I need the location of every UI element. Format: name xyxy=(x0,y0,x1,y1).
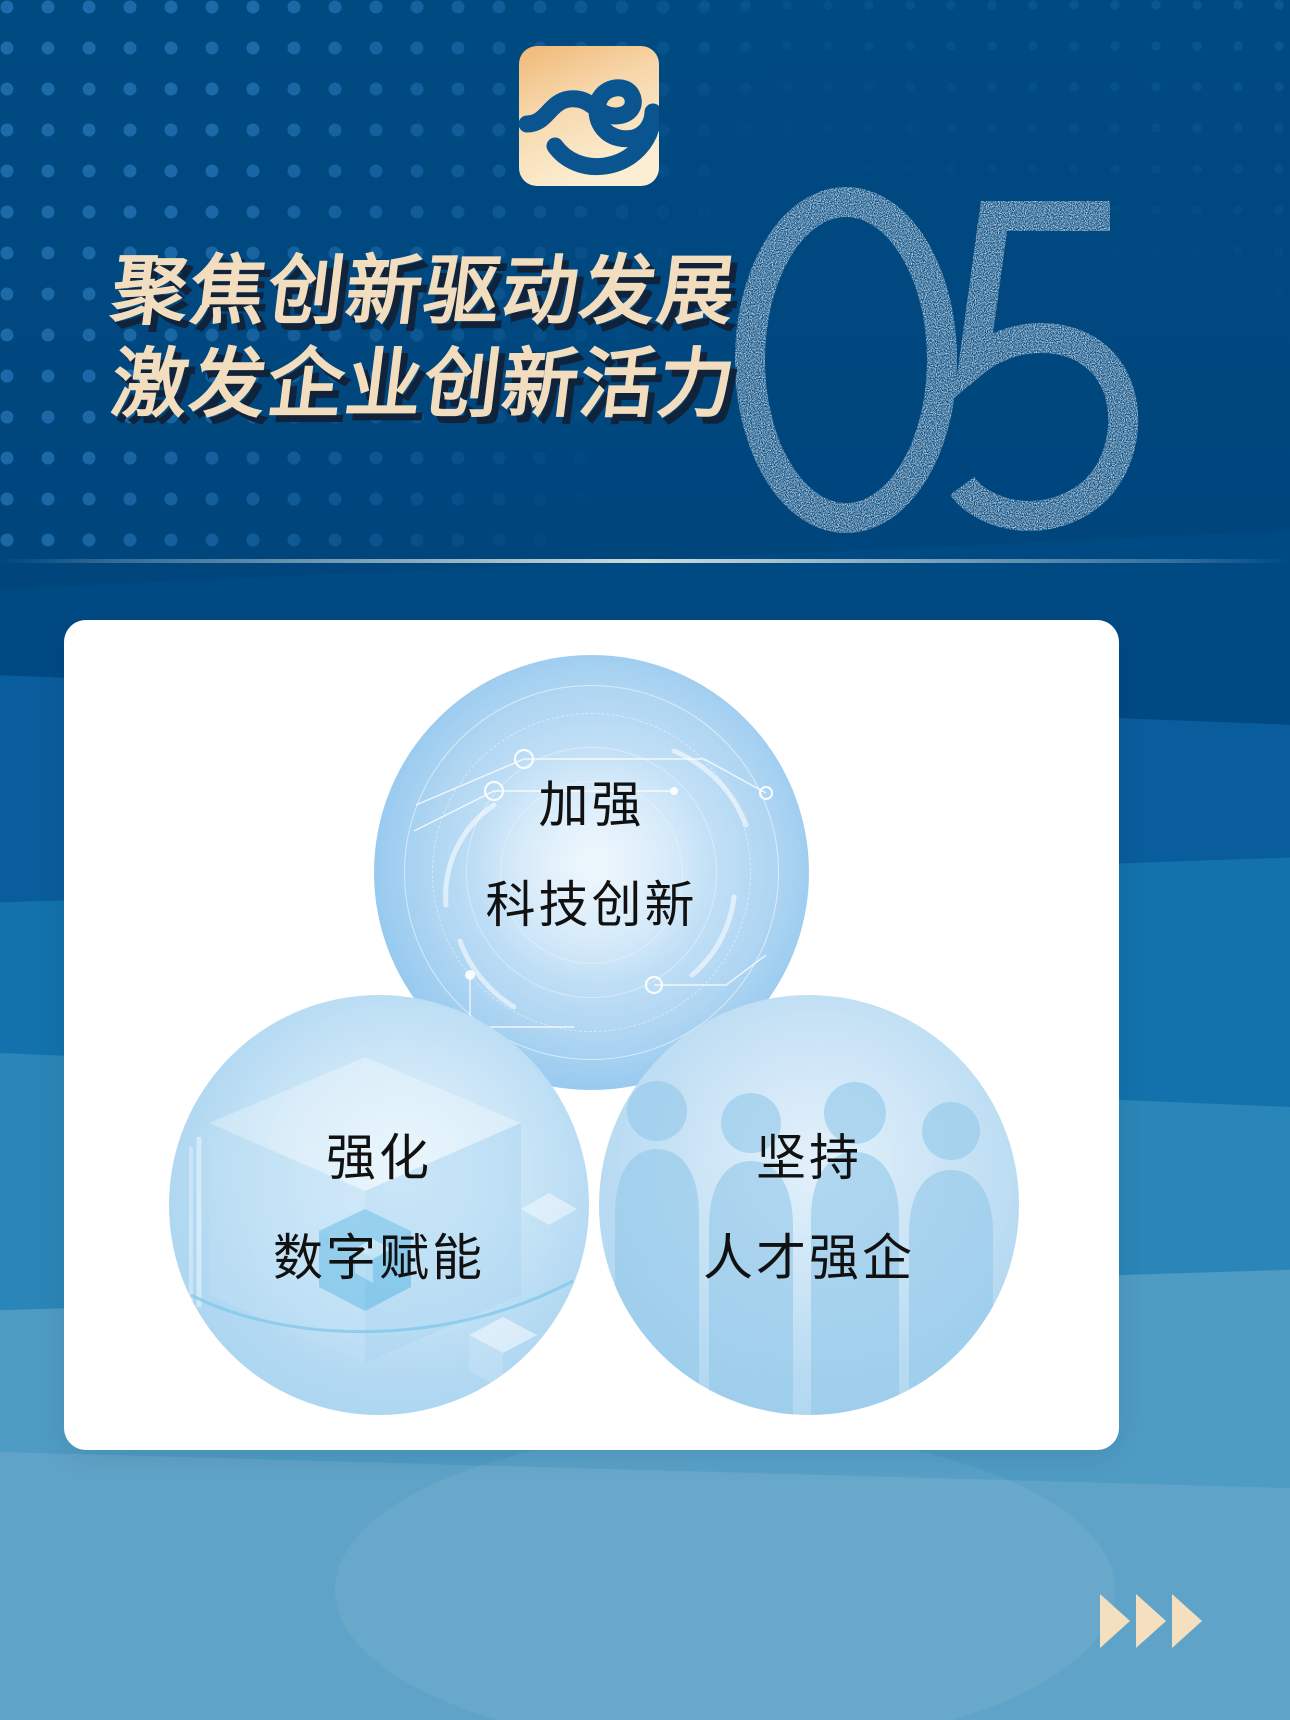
header-divider xyxy=(0,559,1290,563)
bubble-digital-empowerment[interactable]: 强化 数字赋能 xyxy=(169,995,589,1415)
bubble-talent-strategy[interactable]: 坚持 人才强企 xyxy=(599,995,1019,1415)
bubble-talent-title: 坚持 xyxy=(599,1133,1019,1183)
people-silhouette-icon xyxy=(599,995,1019,1415)
next-page-arrows[interactable] xyxy=(1100,1594,1202,1648)
headline-line-1: 聚焦创新驱动发展 xyxy=(106,246,877,339)
poster-root: 聚焦创新驱动发展 激发企业创新活力 xyxy=(0,0,1290,1720)
data-cube-icon xyxy=(169,995,589,1415)
content-card: 加强 科技创新 xyxy=(64,620,1119,1450)
arrow-icon-2 xyxy=(1136,1594,1166,1648)
headline: 聚焦创新驱动发展 激发企业创新活力 xyxy=(112,246,872,431)
bubble-digital-subtitle: 数字赋能 xyxy=(169,1233,589,1283)
s-monogram-logo xyxy=(519,46,659,186)
headline-line-2: 激发企业创新活力 xyxy=(106,339,877,432)
bubble-tech-title: 加强 xyxy=(374,780,809,830)
bubble-talent-subtitle: 人才强企 xyxy=(599,1233,1019,1283)
bubble-digital-title: 强化 xyxy=(169,1133,589,1183)
arrow-icon-3 xyxy=(1172,1594,1202,1648)
bubble-tech-subtitle: 科技创新 xyxy=(374,880,809,930)
arrow-icon-1 xyxy=(1100,1594,1130,1648)
